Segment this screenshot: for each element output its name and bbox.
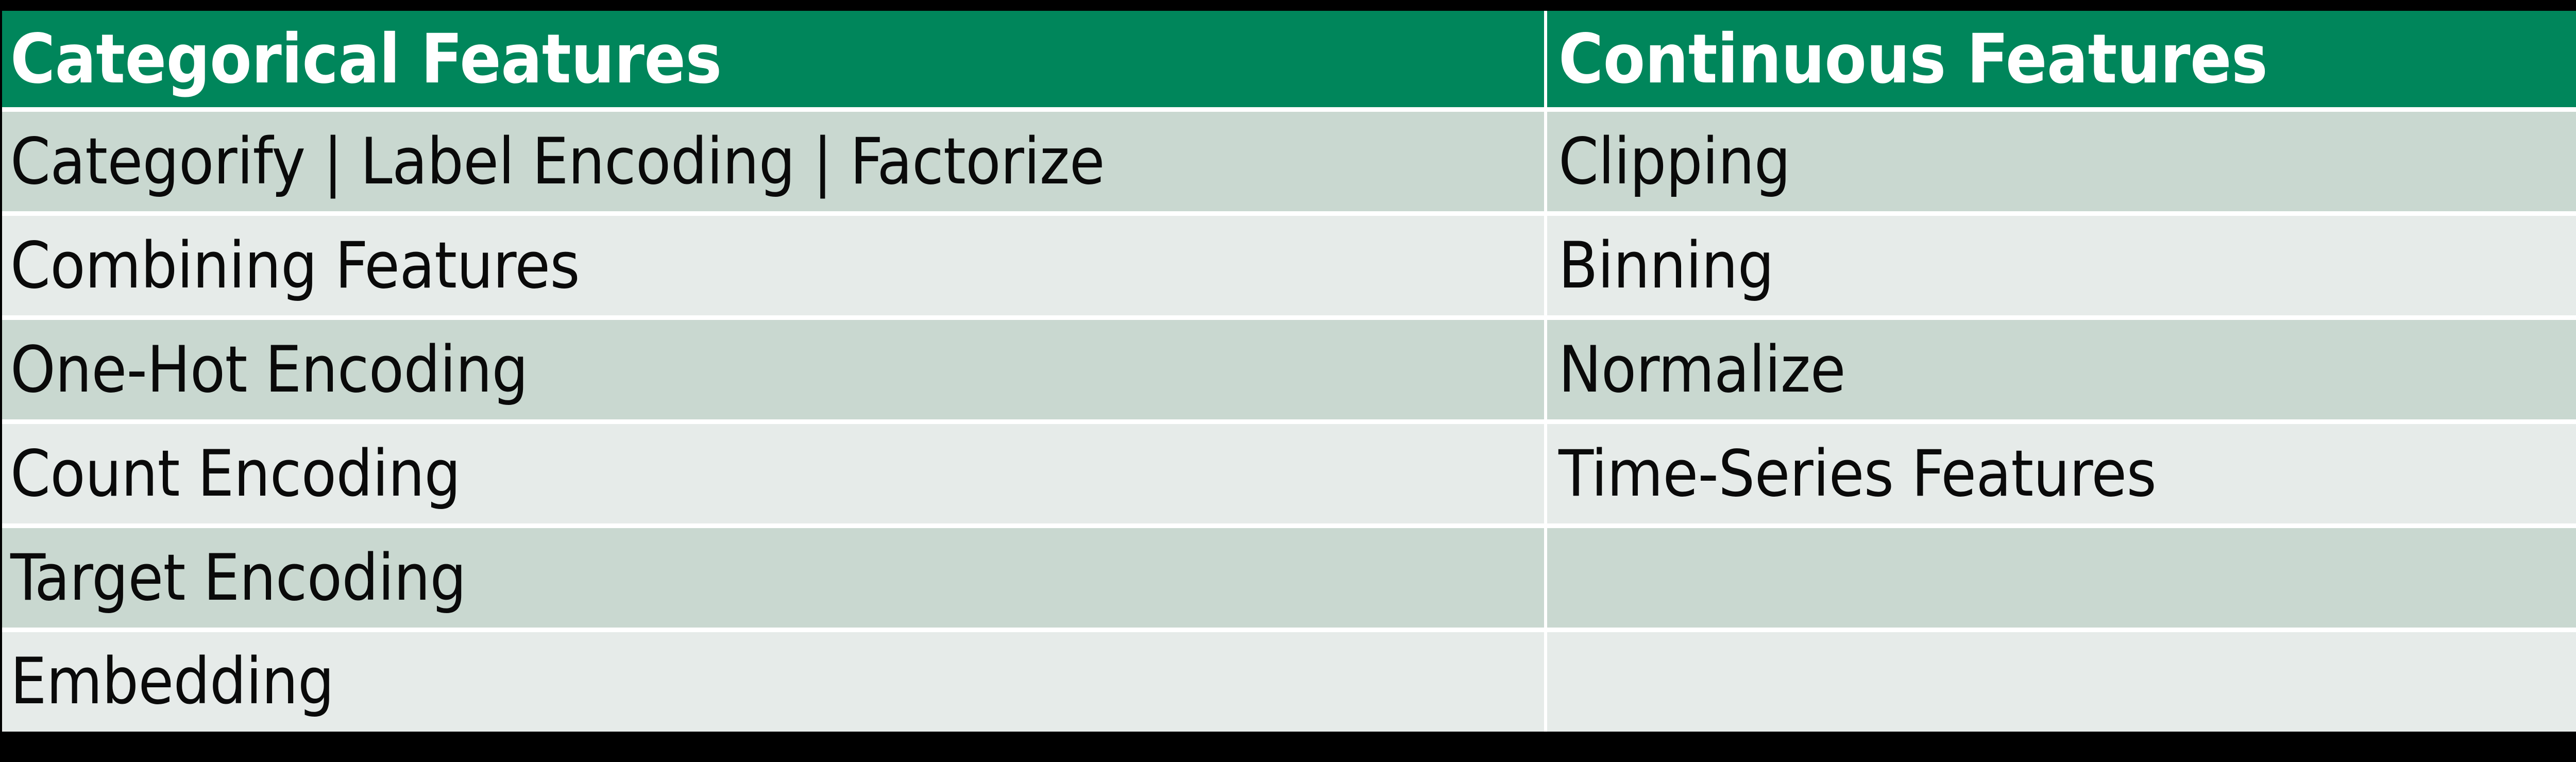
cell-categorical-4: Target Encoding: [2, 528, 1544, 628]
table-row: One-Hot Encoding Normalize: [2, 320, 2576, 419]
cell-categorical-5: Embedding: [2, 632, 1544, 732]
cell-continuous-3: Time-Series Features: [1544, 424, 2576, 523]
cell-categorical-0: Categorify | Label Encoding | Factorize: [2, 112, 1544, 211]
bottom-black-band: [0, 732, 2576, 762]
cell-categorical-1: Combining Features: [2, 216, 1544, 315]
row-separator: [2, 419, 2576, 424]
column-header-categorical-features: Categorical Features: [2, 11, 1544, 107]
row-separator: [2, 107, 2576, 112]
cell-categorical-3: Count Encoding: [2, 424, 1544, 523]
top-black-band: [0, 0, 2576, 11]
table-header-row: Categorical Features Continuous Features: [2, 11, 2576, 107]
cell-continuous-0: Clipping: [1544, 112, 2576, 211]
table-row: Combining Features Binning: [2, 216, 2576, 315]
cell-continuous-1: Binning: [1544, 216, 2576, 315]
cell-categorical-2: One-Hot Encoding: [2, 320, 1544, 419]
cell-continuous-4: [1544, 528, 2576, 628]
feature-engineering-table: Categorical Features Continuous Features…: [2, 11, 2576, 732]
cell-continuous-2: Normalize: [1544, 320, 2576, 419]
slide-frame: Categorical Features Continuous Features…: [0, 0, 2576, 762]
row-separator: [2, 628, 2576, 632]
slide-canvas: Categorical Features Continuous Features…: [2, 11, 2576, 732]
table-row: Categorify | Label Encoding | Factorize …: [2, 112, 2576, 211]
column-header-continuous-features: Continuous Features: [1544, 11, 2576, 107]
table-row: Target Encoding: [2, 528, 2576, 628]
table-row: Count Encoding Time-Series Features: [2, 424, 2576, 523]
row-separator: [2, 315, 2576, 320]
cell-continuous-5: [1544, 632, 2576, 732]
row-separator: [2, 523, 2576, 528]
row-separator: [2, 211, 2576, 216]
table-row: Embedding: [2, 632, 2576, 732]
